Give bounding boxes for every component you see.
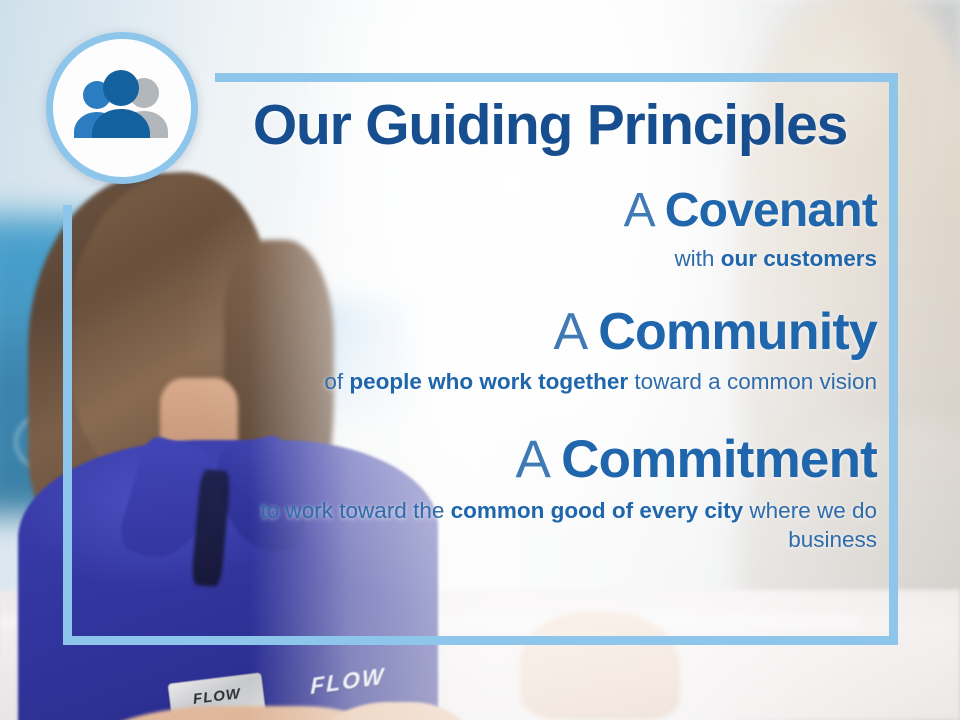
principle-subtext: to work toward the common good of every …	[180, 496, 877, 555]
subtext-prefix: of	[324, 369, 349, 394]
principle-heading: A Community	[180, 303, 877, 361]
principle-keyword: Covenant	[665, 184, 877, 237]
principle-subtext: of people who work together toward a com…	[180, 367, 877, 396]
people-group-badge	[46, 32, 198, 184]
principle-article: A	[554, 303, 599, 361]
principle-community: A Community of people who work together …	[180, 303, 877, 396]
page-title: Our Guiding Principles	[210, 96, 890, 154]
principle-keyword: Commitment	[561, 430, 877, 489]
people-group-icon	[68, 70, 176, 146]
principle-covenant: A Covenant with our customers	[180, 184, 877, 273]
principle-heading: A Covenant	[180, 184, 877, 238]
subtext-strong: common good of every city	[451, 498, 744, 523]
subtext-strong: people who work together	[349, 369, 628, 394]
principle-article: A	[516, 430, 562, 489]
guiding-principles-poster: FLOW FLOW	[0, 0, 960, 720]
principle-keyword: Community	[598, 303, 877, 361]
principle-subtext: with our customers	[180, 244, 877, 273]
principle-commitment: A Commitment to work toward the common g…	[180, 430, 877, 554]
subtext-strong: our customers	[721, 246, 877, 271]
subtext-prefix: with	[674, 246, 720, 271]
subtext-suffix: where we do business	[743, 498, 877, 552]
principles-list: A Covenant with our customers A Communit…	[180, 184, 877, 554]
principle-article: A	[624, 184, 665, 237]
principle-heading: A Commitment	[180, 430, 877, 489]
subtext-suffix: toward a common vision	[628, 369, 877, 394]
subtext-prefix: to work toward the	[261, 498, 451, 523]
customer-hand	[520, 612, 680, 720]
